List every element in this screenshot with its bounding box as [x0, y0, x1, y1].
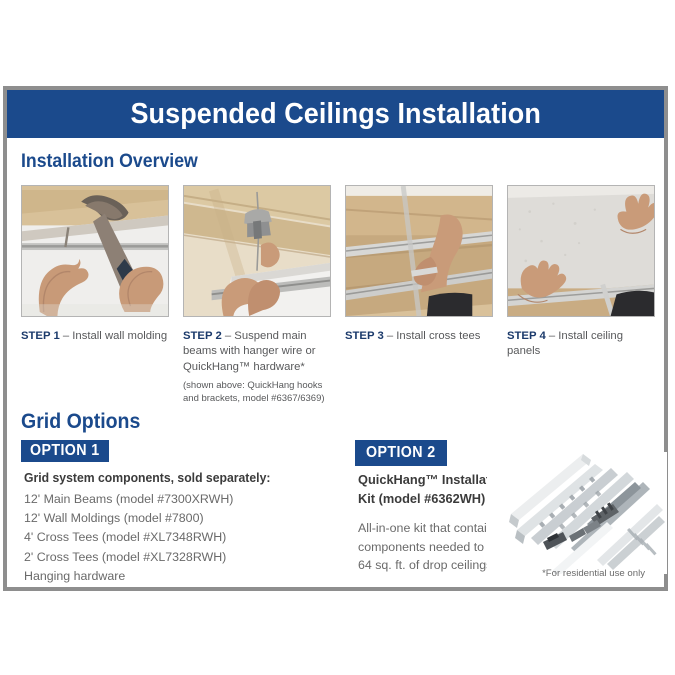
option-1-content: Grid system components, sold separately:…: [24, 471, 324, 586]
step-1-dash: –: [60, 330, 73, 342]
step-4-caption: STEP 4 – Install ceiling panels: [507, 329, 659, 360]
step-2-photo: [183, 185, 331, 317]
step-2-caption: STEP 2 – Suspend main beams with hanger …: [183, 329, 335, 406]
step-4-photo: [507, 185, 655, 317]
step-3-text: Install cross tees: [396, 330, 480, 342]
option-2-footnote: *For residential use only: [445, 568, 645, 579]
option-1-item: 4' Cross Tees (model #XL7348RWH): [24, 528, 324, 547]
step-4-label: STEP 4: [507, 330, 546, 342]
step-3-photo: [345, 185, 493, 317]
page-title: Suspended Ceilings Installation: [130, 98, 540, 131]
step-1-label: STEP 1: [21, 330, 60, 342]
step-photo-strip: [21, 185, 655, 317]
step-4-dash: –: [546, 330, 559, 342]
option-2-badge: OPTION 2: [355, 440, 447, 466]
poster-title-bar: Suspended Ceilings Installation: [7, 90, 664, 138]
option-2-badge-label: OPTION 2: [366, 444, 436, 462]
step-3-label: STEP 3: [345, 330, 384, 342]
option-1-item: Hanging hardware: [24, 567, 324, 586]
option-1-badge: OPTION 1: [21, 440, 109, 462]
option-1-lead: Grid system components, sold separately:: [24, 471, 315, 485]
poster-frame: Suspended Ceilings Installation Installa…: [3, 86, 668, 591]
section-heading-overview: Installation Overview: [21, 151, 198, 173]
step-2-label: STEP 2: [183, 330, 222, 342]
step-1-caption: STEP 1 – Install wall molding: [21, 329, 173, 344]
option-1-badge-label: OPTION 1: [30, 442, 100, 460]
option-1-item: 12' Main Beams (model #7300XRWH): [24, 490, 324, 509]
step-1-text: Install wall molding: [72, 330, 167, 342]
option-1-item: 2' Cross Tees (model #XL7328RWH): [24, 548, 324, 567]
section-heading-grid-options: Grid Options: [21, 410, 140, 434]
step-3-dash: –: [384, 330, 397, 342]
option-2-product-photo: [487, 452, 667, 574]
option-1-item: 12' Wall Moldings (model #7800): [24, 509, 324, 528]
step-1-photo: [21, 185, 169, 317]
step-2-dash: –: [222, 330, 235, 342]
step-2-note: (shown above: QuickHang hooks and bracke…: [183, 380, 335, 406]
step-3-caption: STEP 3 – Install cross tees: [345, 329, 505, 344]
